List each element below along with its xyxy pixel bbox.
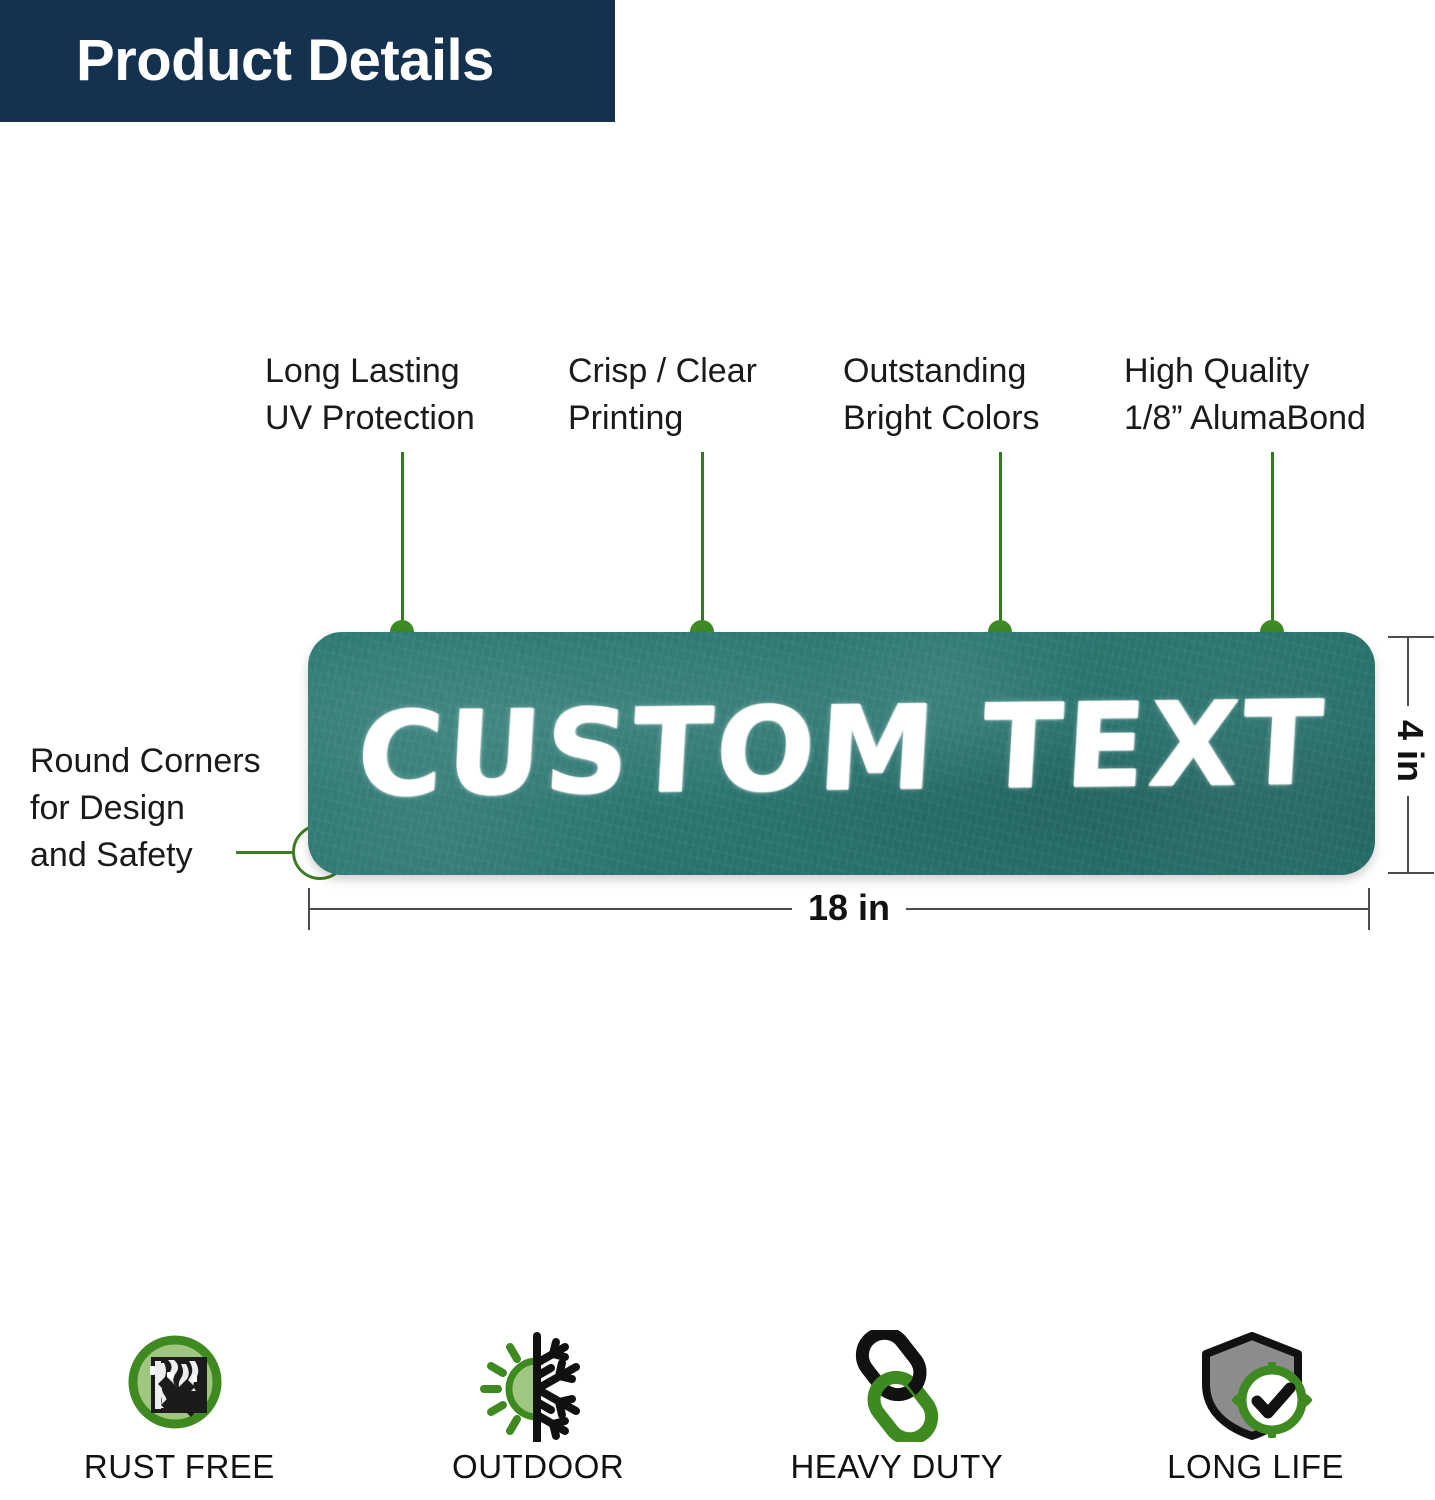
- callout-label-alumabond: High Quality 1/8” AlumaBond: [1124, 348, 1414, 442]
- feature-label-long-life: LONG LIFE: [1167, 1448, 1344, 1486]
- header-bar: Product Details: [0, 0, 615, 122]
- feature-rust-free: RUST FREE: [0, 1330, 359, 1500]
- dim-label-height: 4 in: [1392, 706, 1428, 796]
- sun-snowflake-icon: [473, 1330, 603, 1442]
- feature-long-life: LONG LIFE: [1076, 1330, 1435, 1500]
- feature-label-outdoor: OUTDOOR: [452, 1448, 624, 1486]
- corner-connector-line: [236, 851, 294, 854]
- feature-badges: RUST FREE: [0, 1330, 1435, 1500]
- leader-line-crisp-printing: [701, 452, 704, 634]
- dim-label-width: 18 in: [792, 890, 906, 926]
- shield-clock-check-icon: [1196, 1330, 1316, 1442]
- feature-label-heavy-duty: HEAVY DUTY: [790, 1448, 1003, 1486]
- feature-outdoor: OUTDOOR: [359, 1330, 718, 1500]
- feature-label-rust-free: RUST FREE: [84, 1448, 275, 1486]
- product-details-infographic: Product Details Long Lasting UV Protecti…: [0, 0, 1435, 1500]
- leader-line-bright-colors: [999, 452, 1002, 634]
- dim-tick-top: [1388, 636, 1434, 638]
- leader-line-uv-protection: [401, 452, 404, 634]
- rust-free-icon: [120, 1330, 238, 1442]
- dim-tick-bottom: [1388, 872, 1434, 874]
- sign-custom-text: CUSTOM TEXT: [308, 632, 1375, 875]
- leader-line-alumabond: [1271, 452, 1274, 634]
- page-title: Product Details: [0, 32, 494, 90]
- chain-link-icon: [837, 1330, 957, 1442]
- sign-preview: CUSTOM TEXT: [308, 632, 1375, 875]
- sign-board: CUSTOM TEXT: [308, 632, 1375, 875]
- callout-label-round-corners: Round Corners for Design and Safety: [30, 738, 300, 879]
- feature-heavy-duty: HEAVY DUTY: [718, 1330, 1077, 1500]
- callout-label-bright-colors: Outstanding Bright Colors: [843, 348, 1093, 442]
- callout-label-crisp-printing: Crisp / Clear Printing: [568, 348, 808, 442]
- callout-label-uv-protection: Long Lasting UV Protection: [265, 348, 535, 442]
